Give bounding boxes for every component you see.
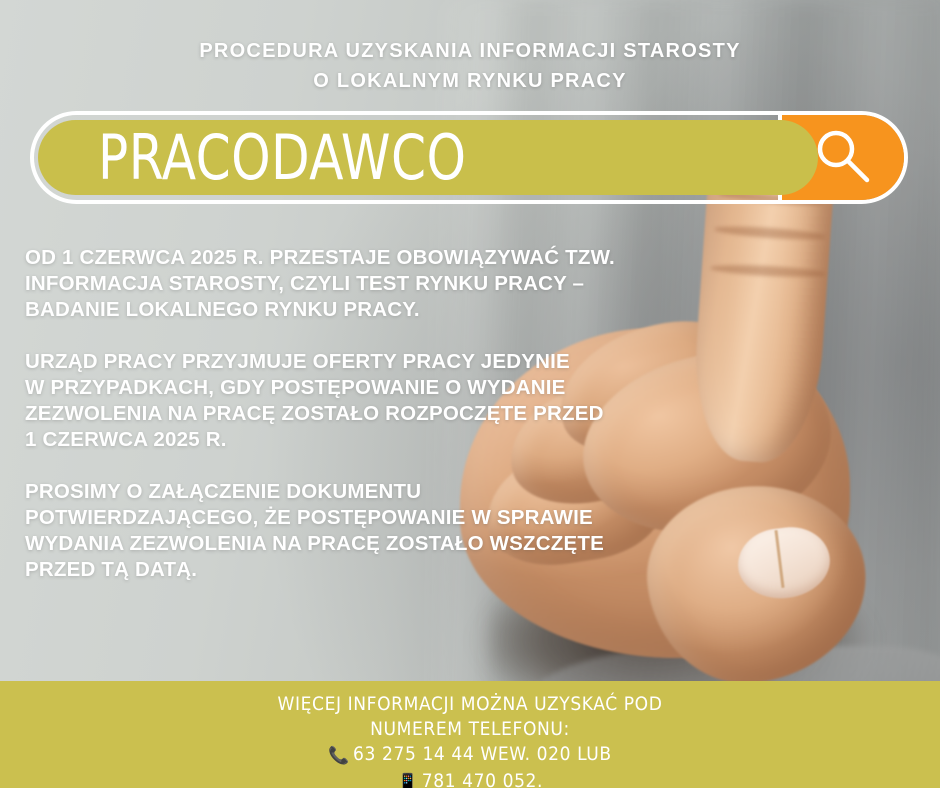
paragraph-2-line-3: ZEZWOLENIA NA PRACĘ ZOSTAŁO ROZPOCZĘTE P… (25, 401, 585, 427)
search-input-value: PRACODAWCO (98, 127, 466, 189)
paragraph-2-line-2: W PRZYPADKACH, GDY POSTĘPOWANIE O WYDANI… (25, 375, 585, 401)
paragraph-2-line-1: URZĄD PRACY PRZYJMUJE OFERTY PRACY JEDYN… (25, 349, 585, 375)
footer-landline-row: 📞63 275 14 44 WEW. 020 LUB (0, 742, 940, 769)
mobile-phone-icon: 📱 (397, 773, 419, 788)
search-input[interactable]: PRACODAWCO (34, 115, 782, 200)
footer-line-2: NUMEREM TELEFONU: (0, 717, 940, 742)
paragraph-3-line-3: WYDANIA ZEZWOLENIA NA PRACĘ ZOSTAŁO WSZC… (25, 531, 585, 557)
search-bar[interactable]: PRACODAWCO (30, 111, 908, 204)
telephone-receiver-icon: 📞 (328, 746, 350, 766)
page-title-line-1: PROCEDURA UZYSKANIA INFORMACJI STAROSTY (0, 36, 940, 66)
footer-mobile-row: 📱781 470 052. (0, 769, 940, 788)
paragraph-3-line-2: POTWIERDZAJĄCEGO, ŻE POSTĘPOWANIE W SPRA… (25, 505, 585, 531)
poster-canvas: PROCEDURA UZYSKANIA INFORMACJI STAROSTY … (0, 0, 940, 788)
page-title-line-2: O LOKALNYM RYNKU PRACY (0, 66, 940, 96)
paragraph-2: URZĄD PRACY PRZYJMUJE OFERTY PRACY JEDYN… (25, 349, 585, 453)
footer-mobile-number: 781 470 052. (422, 770, 543, 788)
contact-footer: WIĘCEJ INFORMACJI MOŻNA UZYSKAĆ POD NUME… (0, 681, 940, 788)
paragraph-1-line-2: INFORMACJA STAROSTY, CZYLI TEST RYNKU PR… (25, 271, 585, 297)
paragraph-1: OD 1 CZERWCA 2025 R. PRZESTAJE OBOWIĄZYW… (25, 245, 585, 323)
page-title: PROCEDURA UZYSKANIA INFORMACJI STAROSTY … (0, 36, 940, 96)
paragraph-3: PROSIMY O ZAŁĄCZENIE DOKUMENTU POTWIERDZ… (25, 479, 585, 583)
paragraph-1-line-1: OD 1 CZERWCA 2025 R. PRZESTAJE OBOWIĄZYW… (25, 245, 585, 271)
paragraph-3-line-1: PROSIMY O ZAŁĄCZENIE DOKUMENTU (25, 479, 585, 505)
footer-line-1: WIĘCEJ INFORMACJI MOŻNA UZYSKAĆ POD (0, 692, 940, 717)
footer-landline-number: 63 275 14 44 WEW. 020 LUB (353, 743, 612, 765)
paragraph-2-line-4: 1 CZERWCA 2025 R. (25, 427, 585, 453)
magnifying-glass-icon (810, 125, 876, 191)
body-copy: OD 1 CZERWCA 2025 R. PRZESTAJE OBOWIĄZYW… (25, 245, 585, 583)
paragraph-1-line-3: BADANIE LOKALNEGO RYNKU PRACY. (25, 297, 585, 323)
paragraph-3-line-4: PRZED TĄ DATĄ. (25, 557, 585, 583)
